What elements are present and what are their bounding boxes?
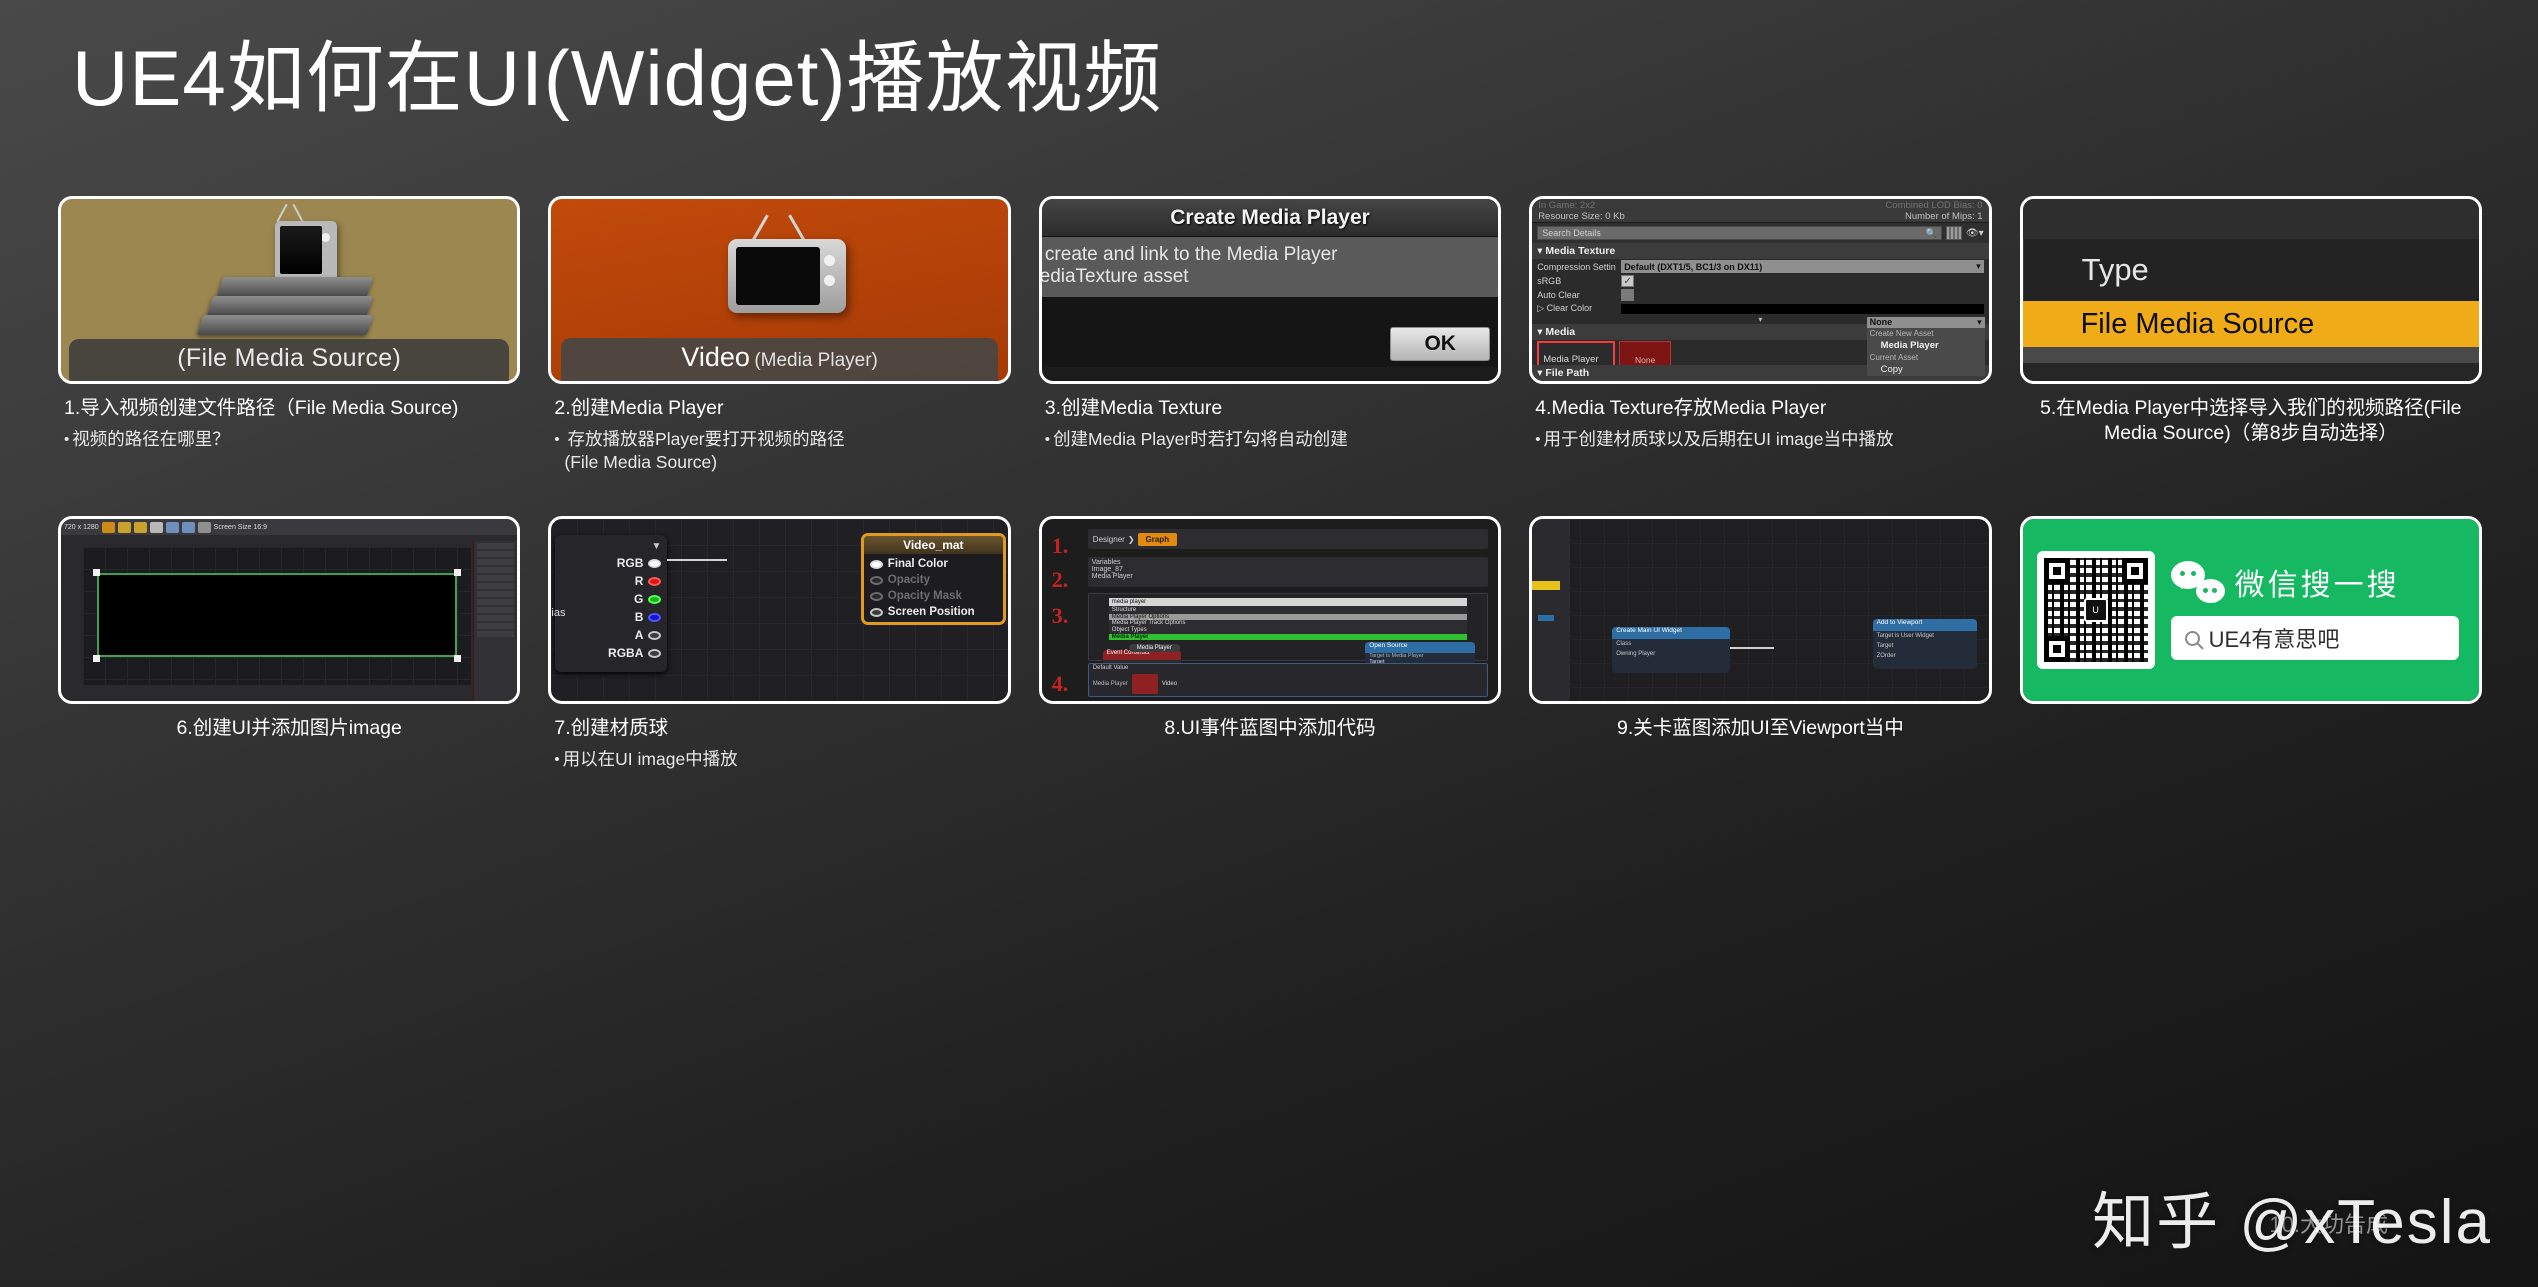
info-top-left: In Game: 2x2: [1538, 200, 1595, 211]
pin-g[interactable]: G: [561, 592, 661, 606]
info-left: Resource Size: 0 Kb: [1538, 211, 1625, 222]
pin-rgba-label: RGBA: [608, 646, 643, 660]
section-file-path-label: File Path: [1545, 367, 1589, 379]
card-5[interactable]: Type File Media Source 5.在Media Player中选…: [2020, 196, 2482, 473]
dropdown-group-create: Create New Asset: [1867, 328, 1985, 339]
dropdown-group-current: Current Asset: [1867, 352, 1985, 363]
variables-header: Variables: [1092, 559, 1484, 566]
thumbnail-material-graph[interactable]: ▼ RGB R G B A RGBA ias Video_mat Final C…: [548, 516, 1010, 704]
node-create-owning[interactable]: Owning Player: [1612, 649, 1730, 659]
node-create-class[interactable]: Class: [1612, 639, 1730, 649]
screen-size-label: Screen Size 16:9: [214, 524, 267, 531]
pin-g-label: G: [634, 592, 643, 606]
pin-final-color-label: Final Color: [888, 558, 948, 570]
zoom-level: 720 x 1280: [64, 524, 99, 531]
media-player-thumbnail-icon: [1132, 674, 1158, 694]
default-value-label: Media Player: [1093, 681, 1128, 687]
card-6-caption: 6.创建UI并添加图片image: [58, 704, 520, 741]
dropdown-value-row[interactable]: None▾: [1867, 317, 1985, 328]
card-1[interactable]: (File Media Source) 1.导入视频创建文件路径（File Me…: [58, 196, 520, 473]
pin-a[interactable]: A: [561, 628, 661, 642]
pin-opacity-label: Opacity: [888, 574, 930, 586]
wechat-content: 微信搜一搜 UE4有意思吧: [2171, 560, 2465, 660]
dialog-body: to create and link to the Media Player M…: [1042, 237, 1498, 297]
default-value-value[interactable]: Video: [1162, 681, 1177, 687]
blueprint-sidebar[interactable]: [1532, 519, 1570, 701]
toolbar-icon-5[interactable]: [166, 522, 179, 533]
badge-big: Video: [681, 342, 750, 372]
card-6-title: 6.创建UI并添加图片image: [177, 717, 402, 739]
autoclear-label: Auto Clear: [1537, 290, 1617, 300]
info-top-right: Combined LOD Bias: 0: [1885, 200, 1982, 211]
node-create-main-ui-widget[interactable]: Create Main UI Widget Class Owning Playe…: [1612, 627, 1730, 673]
chevron-down-icon: ▾: [1976, 261, 1981, 272]
qr-finder-tr: [2122, 558, 2148, 584]
node-viewport-target[interactable]: Target: [1873, 641, 1977, 651]
compression-value: Default (DXT1/5, BC1/3 on DX11): [1624, 262, 1762, 272]
material-output-node[interactable]: Video_mat Final Color Opacity Opacity Ma…: [861, 533, 1006, 625]
card-4[interactable]: In Game: 2x2Combined LOD Bias: 0 Resourc…: [1529, 196, 1991, 473]
texture-sample-node[interactable]: ▼ RGB R G B A RGBA: [555, 535, 667, 672]
card-3-sub: 创建Media Player时若打勾将自动创建: [1045, 428, 1495, 451]
node-add-to-viewport[interactable]: Add to Viewport Target is User Widget Ta…: [1873, 619, 1977, 669]
card-9-title: 9.关卡蓝图添加UI至Viewport当中: [1617, 717, 1904, 739]
type-group-object: Object Types: [1109, 626, 1467, 634]
node-create-title: Create Main UI Widget: [1612, 627, 1730, 639]
pin-screen-position[interactable]: Screen Position: [864, 606, 1003, 618]
card-1-caption: 1.导入视频创建文件路径（File Media Source) 视频的路径在哪里…: [58, 384, 520, 451]
pin-rgb[interactable]: RGB: [561, 556, 661, 570]
pill-media-player[interactable]: Media Player: [1129, 644, 1180, 652]
card-2-sub: 存放播放器Player要打开视频的路径 (File Media Source): [554, 428, 1004, 474]
antenna-left-icon: [277, 204, 288, 223]
dialog-title: Create Media Player: [1170, 206, 1370, 230]
search-placeholder: Search Details: [1542, 228, 1601, 238]
grid-view-icon[interactable]: [1946, 226, 1962, 240]
type-row: Type: [2023, 239, 2479, 301]
row-clearcolor[interactable]: ▷ Clear Color: [1532, 302, 1988, 315]
pin-b-label: B: [635, 610, 644, 624]
default-value-header: Default Value: [1089, 664, 1487, 672]
asset-dropdown[interactable]: None▾ Create New Asset Media Player Curr…: [1867, 317, 1985, 376]
thumbnail-level-blueprint[interactable]: Create Main UI Widget Class Owning Playe…: [1529, 516, 1991, 704]
toolbar-icon-7[interactable]: [198, 522, 211, 533]
autoclear-checkbox[interactable]: [1621, 289, 1634, 301]
card-2-caption: 2.创建Media Player 存放播放器Player要打开视频的路径 (Fi…: [548, 384, 1010, 473]
selected-option-label: File Media Source: [2081, 308, 2315, 341]
tab-designer[interactable]: Designer: [1093, 535, 1125, 544]
tab-graph[interactable]: Graph: [1138, 533, 1178, 546]
default-value-panel[interactable]: Default Value Media Player Video: [1088, 663, 1488, 697]
cards-row-2: 720 x 1280 Screen Size 16:9: [58, 516, 2482, 771]
search-input[interactable]: Search Details 🔍: [1537, 226, 1942, 240]
card-10[interactable]: U 微信搜一搜: [2020, 516, 2482, 771]
wechat-banner: U 微信搜一搜: [2023, 519, 2479, 701]
hidden-caption-10: 10.大功告成: [2269, 1207, 2388, 1239]
dialog-line-2: MediaTexture asset: [1042, 266, 1498, 288]
dropdown-item-media-player[interactable]: Media Player: [1867, 339, 1985, 352]
resize-handle-br[interactable]: [454, 655, 461, 662]
card-8-caption: 8.UI事件蓝图中添加代码: [1039, 704, 1501, 741]
pin-b[interactable]: B: [561, 610, 661, 624]
resize-handle-tl[interactable]: [93, 569, 100, 576]
card-2-title: 2.创建Media Player: [554, 397, 723, 419]
wire-1: [1730, 647, 1774, 649]
pin-rgb-label: RGB: [617, 556, 644, 570]
pin-r-label: R: [635, 574, 644, 588]
tv-icon: [728, 239, 846, 313]
blueprint-marker: [1538, 615, 1554, 621]
compression-combo[interactable]: Default (DXT1/5, BC1/3 on DX11)▾: [1621, 260, 1983, 273]
pin-a-label: A: [635, 628, 644, 642]
texture-info: In Game: 2x2Combined LOD Bias: 0 Resourc…: [1532, 199, 1988, 223]
step-number-1: 1.: [1052, 533, 1069, 559]
card-3-caption: 3.创建Media Texture 创建Media Player时若打勾将自动创…: [1039, 384, 1501, 451]
thumbnail-create-media-player-dialog[interactable]: Create Media Player to create and link t…: [1039, 196, 1501, 384]
eye-icon[interactable]: 👁▾: [1966, 228, 1984, 239]
dropdown-item-copy[interactable]: Copy: [1867, 363, 1985, 376]
srgb-label: sRGB: [1537, 276, 1617, 286]
cards-row-1: (File Media Source) 1.导入视频创建文件路径（File Me…: [58, 196, 2482, 473]
clearcolor-swatch[interactable]: [1621, 304, 1983, 314]
card-9-caption: 9.关卡蓝图添加UI至Viewport当中: [1529, 704, 1991, 741]
step-number-2: 2.: [1052, 567, 1069, 593]
srgb-checkbox[interactable]: ✓: [1621, 275, 1634, 287]
designer-toolbar[interactable]: 720 x 1280 Screen Size 16:9: [61, 519, 517, 535]
step-number-4: 4.: [1052, 671, 1069, 697]
event-graph[interactable]: media player Structure Media Player Opti…: [1088, 593, 1488, 661]
antenna-right-icon: [293, 204, 304, 223]
resize-handle-tr[interactable]: [454, 569, 461, 576]
pin-final-color[interactable]: Final Color: [864, 558, 1003, 570]
qr-finder-tl: [2044, 558, 2070, 584]
section-media-texture-label: Media Texture: [1545, 245, 1615, 257]
section-media-texture[interactable]: ▾ Media Texture: [1532, 243, 1988, 259]
node-viewport-title: Add to Viewport: [1873, 619, 1977, 631]
selected-option-row[interactable]: File Media Source: [2023, 301, 2479, 347]
card-8[interactable]: 1. 2. 3. 4. Designer ❯ Graph Variables I…: [1039, 516, 1501, 771]
material-node-title: Video_mat: [864, 536, 1003, 554]
type-option-3[interactable]: Media Player: [1109, 634, 1467, 640]
node-collapse-icon[interactable]: ▼: [561, 541, 661, 552]
pin-r[interactable]: R: [561, 574, 661, 588]
thumbnail-type-selector[interactable]: Type File Media Source: [2020, 196, 2482, 384]
thumb-badge: Video (Media Player): [561, 338, 997, 381]
card-1-title: 1.导入视频创建文件路径（File Media Source): [64, 397, 458, 419]
chevron-right-icon: ❯: [1128, 535, 1135, 544]
pin-screen-position-label: Screen Position: [888, 606, 975, 618]
toolbar-icon-2[interactable]: [118, 522, 131, 533]
pin-opacity-mask-label: Opacity Mask: [888, 590, 962, 602]
info-right: Number of Mips: 1: [1905, 211, 1983, 222]
dialog-line-1: to create and link to the Media Player: [1042, 244, 1498, 266]
tv-icon: [275, 221, 337, 281]
card-2[interactable]: Video (Media Player) 2.创建Media Player 存放…: [548, 196, 1010, 473]
node-viewport-sub: Target is User Widget: [1873, 631, 1977, 641]
wechat-search-query: UE4有意思吧: [2209, 622, 2340, 654]
card-5-title: 5.在Media Player中选择导入我们的视频路径(File Media S…: [2040, 397, 2461, 444]
variable-image[interactable]: Image_87: [1092, 566, 1484, 573]
wechat-brand-label: 微信搜一搜: [2235, 560, 2400, 604]
qr-finder-bl: [2044, 636, 2070, 662]
compression-label: Compression Settin: [1537, 262, 1617, 272]
node-extra-label: ias: [551, 607, 565, 619]
card-7-caption: 7.创建材质球 用以在UI image中播放: [548, 704, 1010, 771]
designer-details-panel[interactable]: [473, 541, 517, 701]
card-7-sub: 用以在UI image中播放: [554, 748, 1004, 771]
node-open-source-title: Open Source: [1365, 642, 1475, 653]
type-search-input[interactable]: media player: [1109, 598, 1467, 606]
dialog-titlebar: Create Media Player: [1042, 199, 1498, 237]
card-5-caption: 5.在Media Player中选择导入我们的视频路径(File Media S…: [2020, 384, 2482, 446]
section-media-label: Media: [1545, 326, 1575, 338]
row-autoclear[interactable]: Auto Clear: [1532, 288, 1988, 302]
dropdown-value: None: [1870, 317, 1893, 328]
qr-code[interactable]: U: [2037, 551, 2155, 669]
thumbnail-file-media-source[interactable]: (File Media Source): [58, 196, 520, 384]
search-icon: 🔍: [1926, 228, 1937, 239]
thumbnail-widget-blueprint[interactable]: 1. 2. 3. 4. Designer ❯ Graph Variables I…: [1039, 516, 1501, 704]
thumbnail-umg-designer[interactable]: 720 x 1280 Screen Size 16:9: [58, 516, 520, 704]
wechat-brand-row: 微信搜一搜: [2171, 560, 2465, 604]
card-6[interactable]: 720 x 1280 Screen Size 16:9: [58, 516, 520, 771]
type-label: Type: [2082, 252, 2149, 288]
card-7-title: 7.创建材质球: [554, 717, 668, 739]
card-9[interactable]: Create Main UI Widget Class Owning Playe…: [1529, 516, 1991, 771]
node-viewport-zorder[interactable]: ZOrder: [1873, 651, 1977, 661]
thumbnail-media-texture-details[interactable]: In Game: 2x2Combined LOD Bias: 0 Resourc…: [1529, 196, 1991, 384]
search-icon: [2185, 631, 2200, 646]
card-2-sub-line2: (File Media Source): [554, 451, 1004, 474]
card-2-sub-line1: 存放播放器Player要打开视频的路径: [568, 429, 845, 449]
wechat-icon: [2171, 561, 2225, 603]
variable-media-player[interactable]: Media Player: [1092, 573, 1484, 580]
pin-opacity[interactable]: Opacity: [864, 574, 1003, 586]
dialog-rest: OK: [1042, 297, 1498, 367]
resize-handle-bl[interactable]: [93, 655, 100, 662]
toolbar-icon-4[interactable]: [150, 522, 163, 533]
pin-opacity-mask[interactable]: Opacity Mask: [864, 590, 1003, 602]
selector-footer: [2023, 347, 2479, 363]
variables-panel[interactable]: Variables Image_87 Media Player: [1088, 557, 1488, 587]
thumbnail-media-player[interactable]: Video (Media Player): [548, 196, 1010, 384]
badge-small: (Media Player): [754, 350, 878, 371]
qr-logo-icon: U: [2084, 598, 2108, 622]
designer-canvas[interactable]: [83, 547, 471, 685]
details-search-bar[interactable]: Search Details 🔍 👁▾: [1532, 223, 1988, 243]
page-title: UE4如何在UI(Widget)播放视频: [72, 34, 1162, 124]
card-4-caption: 4.Media Texture存放Media Player 用于创建材质球以及后…: [1529, 384, 1991, 451]
card-7[interactable]: ▼ RGB R G B A RGBA ias Video_mat Final C…: [548, 516, 1010, 771]
thumbnail-wechat-search[interactable]: U 微信搜一搜: [2020, 516, 2482, 704]
thumb-badge: (File Media Source): [69, 339, 509, 381]
connection-wire: [667, 559, 727, 561]
chevron-down-icon: ▾: [1977, 317, 1982, 328]
card-4-sub: 用于创建材质球以及后期在UI image当中播放: [1535, 428, 1985, 451]
ok-button[interactable]: OK: [1390, 327, 1490, 361]
card-1-sub: 视频的路径在哪里？: [64, 428, 514, 451]
wechat-search-box[interactable]: UE4有意思吧: [2171, 616, 2459, 660]
image-widget[interactable]: [97, 573, 457, 657]
toolbar-icon-6[interactable]: [182, 522, 195, 533]
row-srgb[interactable]: sRGB ✓: [1532, 274, 1988, 288]
card-8-title: 8.UI事件蓝图中添加代码: [1164, 717, 1375, 739]
card-4-title: 4.Media Texture存放Media Player: [1535, 397, 1826, 419]
card-3[interactable]: Create Media Player to create and link t…: [1039, 196, 1501, 473]
toolbar-icon-1[interactable]: [102, 522, 115, 533]
toolbar-icon-3[interactable]: [134, 522, 147, 533]
clearcolor-text: Clear Color: [1547, 303, 1593, 313]
designer-graph-tabs[interactable]: Designer ❯ Graph: [1088, 529, 1488, 549]
card-3-title: 3.创建Media Texture: [1045, 397, 1222, 419]
selector-header: [2023, 199, 2479, 239]
clearcolor-label: ▷ Clear Color: [1537, 303, 1617, 314]
type-group-structure: Structure: [1109, 606, 1467, 614]
pin-rgba[interactable]: RGBA: [561, 646, 661, 660]
step-number-3: 3.: [1052, 603, 1069, 629]
highlight-marker: [1532, 581, 1560, 590]
row-compression[interactable]: Compression Settin Default (DXT1/5, BC1/…: [1532, 259, 1988, 274]
